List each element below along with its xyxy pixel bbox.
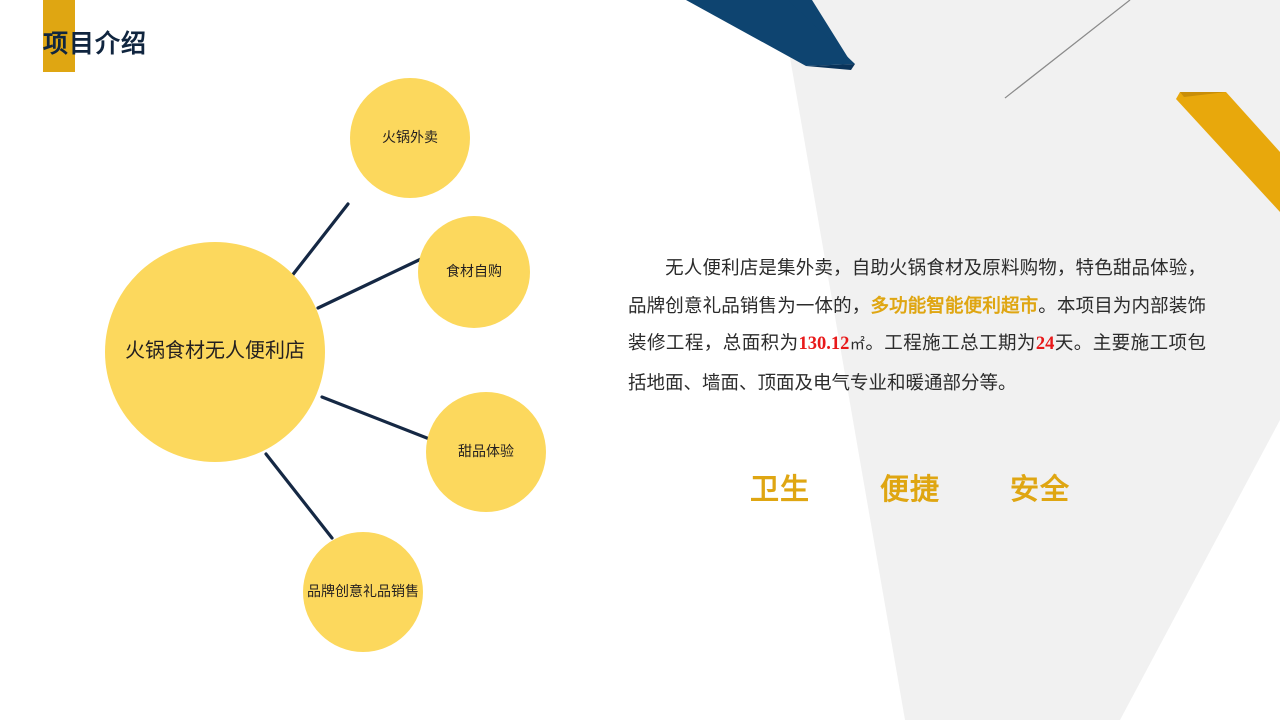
node-label-line: 火锅外卖 — [382, 129, 438, 147]
node-label-line: 火锅食材无人 — [125, 339, 245, 365]
connector-line — [318, 259, 421, 308]
navy-diagonal-stripe-shadow — [806, 64, 855, 70]
node-label-line: 食材自购 — [446, 263, 502, 281]
diagram-node-leaf[interactable]: 品牌创意礼品销售 — [303, 532, 423, 652]
thin-diagonal-rule-2 — [1005, 0, 1130, 98]
highlight-multifunction-store: 多功能智能便利超市 — [870, 295, 1038, 316]
node-label-line: 甜品体验 — [458, 443, 514, 461]
keyword-safe: 安全 — [1010, 466, 1070, 508]
description-segment-3: 。工程施工总工期为 — [865, 332, 1036, 353]
node-label-line: 品牌创意礼品 — [307, 583, 391, 601]
diagram-node-hub[interactable]: 火锅食材无人便利店 — [105, 242, 325, 462]
diagram-node-leaf[interactable]: 甜品体验 — [426, 392, 546, 512]
node-label-line: 便利店 — [245, 339, 305, 365]
navy-diagonal-stripe — [690, 0, 852, 64]
keyword-hygiene: 卫生 — [750, 466, 810, 508]
keyword-row: 卫生 便捷 安全 — [628, 466, 1206, 508]
connector-line — [266, 454, 332, 538]
gold-diagonal-stripe-shadow — [1180, 92, 1226, 97]
concept-diagram: 火锅食材无人便利店 火锅外卖 食材自购 甜品体验 品牌创意礼品销售 — [0, 0, 620, 720]
diagram-node-leaf[interactable]: 火锅外卖 — [350, 78, 470, 198]
project-description: 无人便利店是集外卖，自助火锅食材及原料购物，特色甜品体验，品牌创意礼品销售为一体… — [628, 249, 1206, 401]
unit-square-meter: ㎡ — [849, 336, 865, 353]
node-label-line: 销售 — [391, 583, 419, 601]
diagram-node-leaf[interactable]: 食材自购 — [418, 216, 530, 328]
highlight-total-area: 130.12 — [799, 334, 850, 354]
highlight-duration-days: 24 — [1036, 334, 1055, 354]
connector-line — [291, 204, 348, 277]
connector-line — [322, 397, 432, 440]
gold-diagonal-stripe — [1176, 92, 1280, 212]
keyword-convenient: 便捷 — [880, 466, 940, 508]
navy-diagonal-stripe-body — [686, 0, 855, 66]
thin-diagonal-rule — [1005, 0, 1130, 98]
